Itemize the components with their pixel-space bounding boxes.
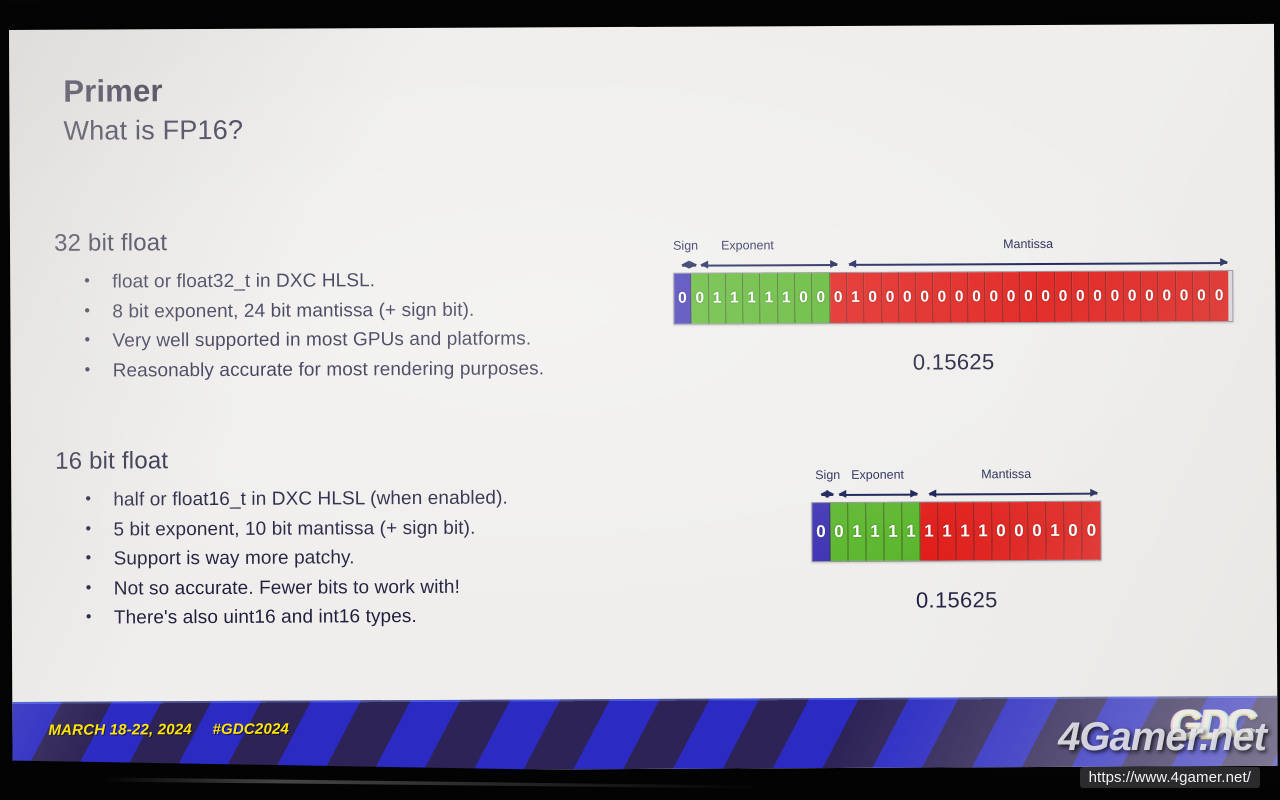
bit-cell-sign: 0 [812,503,830,561]
bit-cell-man: 0 [1037,272,1055,322]
bit-cell-man: 0 [882,273,900,323]
bit-cell-exp: 1 [778,273,796,323]
bit-cell-man: 0 [1193,271,1211,321]
bit-cell-man: 0 [899,273,917,323]
section-16-bit-float: 16 bit float half or float16_t in DXC HL… [55,445,656,633]
fp16-sign-label: Sign [815,468,840,482]
fp32-sign-arrow [682,265,696,267]
list-item: There's also uint16 and int16 types. [56,601,656,633]
fp16-sign-arrow [821,494,833,496]
fp16-mantissa-arrow [929,493,1097,495]
bit-cell-man: 0 [1055,272,1073,322]
bit-cell-man: 1 [938,502,956,560]
bit-cell-man: 0 [1003,272,1021,322]
list-item: 5 bit exponent, 10 bit mantissa (+ sign … [55,512,655,544]
bit-cell-man: 1 [956,502,974,560]
fp16-field-labels: Sign Exponent Mantissa [811,467,1101,488]
bit-cell-man: 0 [992,502,1010,560]
section-heading-32bit: 32 bit float [54,227,654,258]
bit-cell-man: 0 [1010,502,1028,560]
bit-cell-man: 0 [1072,272,1090,322]
bullet-list-32bit: float or float32_t in DXC HLSL. 8 bit ex… [54,265,655,386]
bit-cell-exp: 0 [813,273,831,323]
bit-cell-man: 0 [1124,271,1142,321]
bit-cell-exp: 0 [795,273,813,323]
bullet-list-16bit: half or float16_t in DXC HLSL (when enab… [55,483,656,633]
fp16-exponent-label: Exponent [851,468,904,482]
bit-cell-man: 0 [1176,271,1194,321]
fp32-exponent-label: Exponent [721,238,774,252]
gdc-footer-band: MARCH 18-22, 2024 #GDC2024 GDC [12,696,1277,772]
fp16-bit-row: 0011111111000100 [811,501,1101,562]
list-item: Not so accurate. Fewer bits to work with… [56,571,656,603]
list-item: Reasonably accurate for most rendering p… [55,353,655,385]
watermark-url: https://www.4gamer.net/ [1080,767,1260,788]
bit-cell-man: 0 [1159,271,1177,321]
bit-cell-man: 0 [1064,502,1082,560]
bit-cell-man: 0 [1082,502,1100,560]
bit-cell-man: 0 [1210,271,1228,321]
bit-cell-exp: 1 [761,273,779,323]
bit-cell-man: 0 [951,272,969,322]
bit-cell-exp: 1 [726,273,744,323]
fp32-field-arrows [673,256,1233,273]
conference-hashtag: #GDC2024 [212,721,289,738]
fp16-field-arrows [811,487,1101,502]
bit-cell-exp: 1 [848,503,866,561]
fp32-exponent-arrow [701,264,837,266]
bit-cell-exp: 0 [691,274,709,324]
fp32-field-labels: Sign Exponent Mantissa [673,236,1233,259]
bit-cell-man: 1 [847,273,865,323]
bit-cell-man: 0 [934,272,952,322]
bit-cell-man: 0 [1107,272,1125,322]
gdc-logo: GDC [1170,702,1253,747]
bit-cell-man: 0 [986,272,1004,322]
slide-content: Primer What is FP16? 32 bit float float … [9,24,1278,772]
page-title: Primer [63,73,163,109]
fp16-mantissa-label: Mantissa [981,467,1031,481]
bit-cell-man: 1 [1046,502,1064,560]
bit-cell-man: 0 [1020,272,1038,322]
list-item: half or float16_t in DXC HLSL (when enab… [55,483,655,515]
bit-cell-exp: 1 [743,273,761,323]
list-item: Very well supported in most GPUs and pla… [54,324,654,356]
fp16-decimal-value: 0.15625 [812,587,1102,614]
bit-cell-man: 0 [1028,502,1046,560]
fp32-mantissa-label: Mantissa [1003,237,1053,251]
list-item: float or float32_t in DXC HLSL. [54,265,654,297]
bit-cell-man: 0 [1141,271,1159,321]
fp16-bit-layout-diagram: Sign Exponent Mantissa 0011111111000100 … [811,467,1102,614]
fp32-sign-label: Sign [673,239,698,253]
fp32-mantissa-arrow [849,262,1227,265]
section-32-bit-float: 32 bit float float or float32_t in DXC H… [54,227,655,386]
bit-cell-exp: 1 [866,503,884,561]
list-item: Support is way more patchy. [56,542,656,574]
page-subtitle: What is FP16? [63,115,243,147]
bit-cell-exp: 1 [884,503,902,561]
bit-cell-man: 0 [968,272,986,322]
bit-cell-exp: 0 [830,503,848,561]
fp32-decimal-value: 0.15625 [674,348,1234,377]
bit-cell-man: 1 [920,502,938,560]
list-item: 8 bit exponent, 24 bit mantissa (+ sign … [54,294,654,326]
bit-cell-man: 0 [864,273,882,323]
fp32-bit-row: 00111110001000000000000000000000 [673,270,1233,325]
bit-cell-sign: 0 [674,274,692,324]
fp32-bit-layout-diagram: Sign Exponent Mantissa 00111110001000000… [673,236,1234,377]
photo-of-projected-slide: Primer What is FP16? 32 bit float float … [0,0,1280,800]
bit-cell-man: 1 [974,502,992,560]
bit-cell-exp: 1 [709,273,727,323]
bit-cell-man: 0 [830,273,848,323]
section-heading-16bit: 16 bit float [55,445,655,476]
bit-cell-exp: 1 [902,503,920,561]
bit-cell-man: 0 [916,272,934,322]
projection-screen: Primer What is FP16? 32 bit float float … [9,24,1278,772]
bit-cell-man: 0 [1089,272,1107,322]
conference-dates: MARCH 18-22, 2024 [48,721,192,739]
fp16-exponent-arrow [839,494,917,496]
